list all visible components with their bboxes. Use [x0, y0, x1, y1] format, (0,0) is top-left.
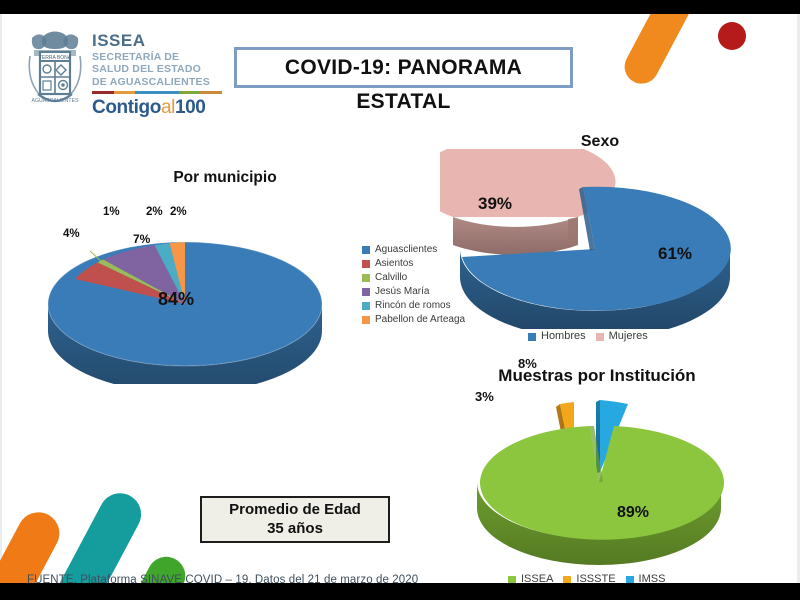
- pie-municipio-label-calvillo: 1%: [103, 206, 120, 218]
- legend-item-imss[interactable]: IMSS: [626, 574, 666, 583]
- legend-label-jesus-maria: Jesús María: [375, 287, 429, 297]
- slide-title-line-2: ESTATAL: [234, 90, 573, 114]
- pie-sexo-svg: [440, 149, 740, 329]
- legend-swatch-icon-issste: [563, 576, 571, 584]
- logo-subtitle: SECRETARÍA DE SALUD DEL ESTADO DE AGUASC…: [92, 51, 222, 88]
- legend-swatch-icon-rincon-de-romos: [362, 302, 370, 310]
- legend-item-issea[interactable]: ISSEA: [508, 574, 553, 583]
- pie-sexo-label-hombres: 61%: [658, 244, 692, 264]
- legend-swatch-icon-jesus-maria: [362, 288, 370, 296]
- legend-label-issste: ISSSTE: [576, 574, 615, 583]
- logo-slogan-contigo: Contigo: [92, 97, 161, 118]
- presentation-slide: TERRA BONA AGUASCALIENTES ISSEA SECRETAR…: [0, 14, 800, 583]
- pie-municipio-label-rincon: 2%: [146, 206, 163, 218]
- legend-label-mujeres: Mujeres: [609, 331, 648, 342]
- legend-label-imss: IMSS: [639, 574, 666, 583]
- pie-chart-sexo: 39% 61%: [440, 149, 740, 329]
- pie-municipio-label-jesus-maria: 7%: [133, 232, 150, 246]
- pie-institucion-label-imss: 8%: [518, 356, 537, 371]
- logo-slogan-100: 100: [175, 97, 206, 118]
- pie-chart-institucion: 8% 3% 89%: [462, 372, 737, 572]
- decorative-dot-red-top-right: [718, 22, 746, 50]
- letterbox-top: [0, 0, 800, 14]
- legend-sexo: Hombres Mujeres: [528, 331, 648, 342]
- slide-title-line-1: COVID-19: PANORAMA: [237, 50, 570, 85]
- pie-sexo-depth-mujeres: [453, 217, 578, 255]
- logo-slogan: Contigoal100: [92, 97, 222, 119]
- decorative-bar-orange-top-right: [619, 14, 700, 90]
- legend-label-asientos: Asientos: [375, 259, 413, 269]
- pie-sexo-label-mujeres: 39%: [478, 194, 512, 214]
- legend-item-issste[interactable]: ISSSTE: [563, 574, 615, 583]
- logo-subtitle-line-3: DE AGUASCALIENTES: [92, 76, 222, 88]
- pie-municipio-label-asientos: 4%: [63, 228, 80, 240]
- promedio-edad-box: Promedio de Edad 35 años: [200, 496, 390, 543]
- legend-swatch-icon-imss: [626, 576, 634, 584]
- legend-swatch-icon-aguasclientes: [362, 246, 370, 254]
- legend-label-aguasclientes: Aguasclientes: [375, 245, 437, 255]
- legend-label-hombres: Hombres: [541, 331, 586, 342]
- legend-item-mujeres[interactable]: Mujeres: [596, 331, 648, 342]
- promedio-edad-label: Promedio de Edad: [229, 501, 361, 520]
- decorative-bar-orange-bottom-left: [0, 505, 67, 583]
- slide-title-box: COVID-19: PANORAMA: [234, 47, 573, 88]
- pie-institucion-label-issste: 3%: [475, 389, 494, 404]
- legend-label-issea: ISSEA: [521, 574, 553, 583]
- legend-institucion: ISSEA ISSSTE IMSS: [508, 574, 665, 583]
- legend-swatch-icon-calvillo: [362, 274, 370, 282]
- coat-of-arms-icon: TERRA BONA AGUASCALIENTES: [24, 28, 86, 112]
- pie-chart-municipio: 1% 4% 2% 2% 7% 84%: [40, 199, 330, 384]
- pie-municipio-label-aguasclientes: 84%: [158, 289, 194, 310]
- pie-institucion-label-issea: 89%: [617, 504, 649, 522]
- legend-swatch-icon-asientos: [362, 260, 370, 268]
- svg-text:TERRA BONA: TERRA BONA: [39, 55, 72, 61]
- logo-color-rule: [92, 91, 222, 94]
- legend-item-hombres[interactable]: Hombres: [528, 331, 586, 342]
- pie-institucion-svg: [462, 372, 737, 572]
- pie-municipio-label-pabellon: 2%: [170, 206, 187, 218]
- legend-label-calvillo: Calvillo: [375, 273, 407, 283]
- logo-slogan-al: al: [161, 97, 175, 118]
- logo-institute-name: ISSEA: [92, 32, 222, 49]
- svg-text:AGUASCALIENTES: AGUASCALIENTES: [32, 98, 80, 104]
- logo-subtitle-line-1: SECRETARÍA DE: [92, 51, 222, 63]
- legend-swatch-icon-pabellon-de-arteaga: [362, 316, 370, 324]
- issea-logo: TERRA BONA AGUASCALIENTES ISSEA SECRETAR…: [24, 28, 224, 120]
- chart-title-municipio: Por municipio: [110, 169, 340, 187]
- promedio-edad-value: 35 años: [267, 520, 323, 539]
- legend-swatch-icon-hombres: [528, 333, 536, 341]
- logo-subtitle-line-2: SALUD DEL ESTADO: [92, 63, 222, 75]
- legend-swatch-icon-issea: [508, 576, 516, 584]
- source-note: FUENTE. Plataforma SINAVE COVID – 19. Da…: [27, 574, 418, 583]
- letterbox-bottom: [0, 583, 800, 600]
- legend-swatch-icon-mujeres: [596, 333, 604, 341]
